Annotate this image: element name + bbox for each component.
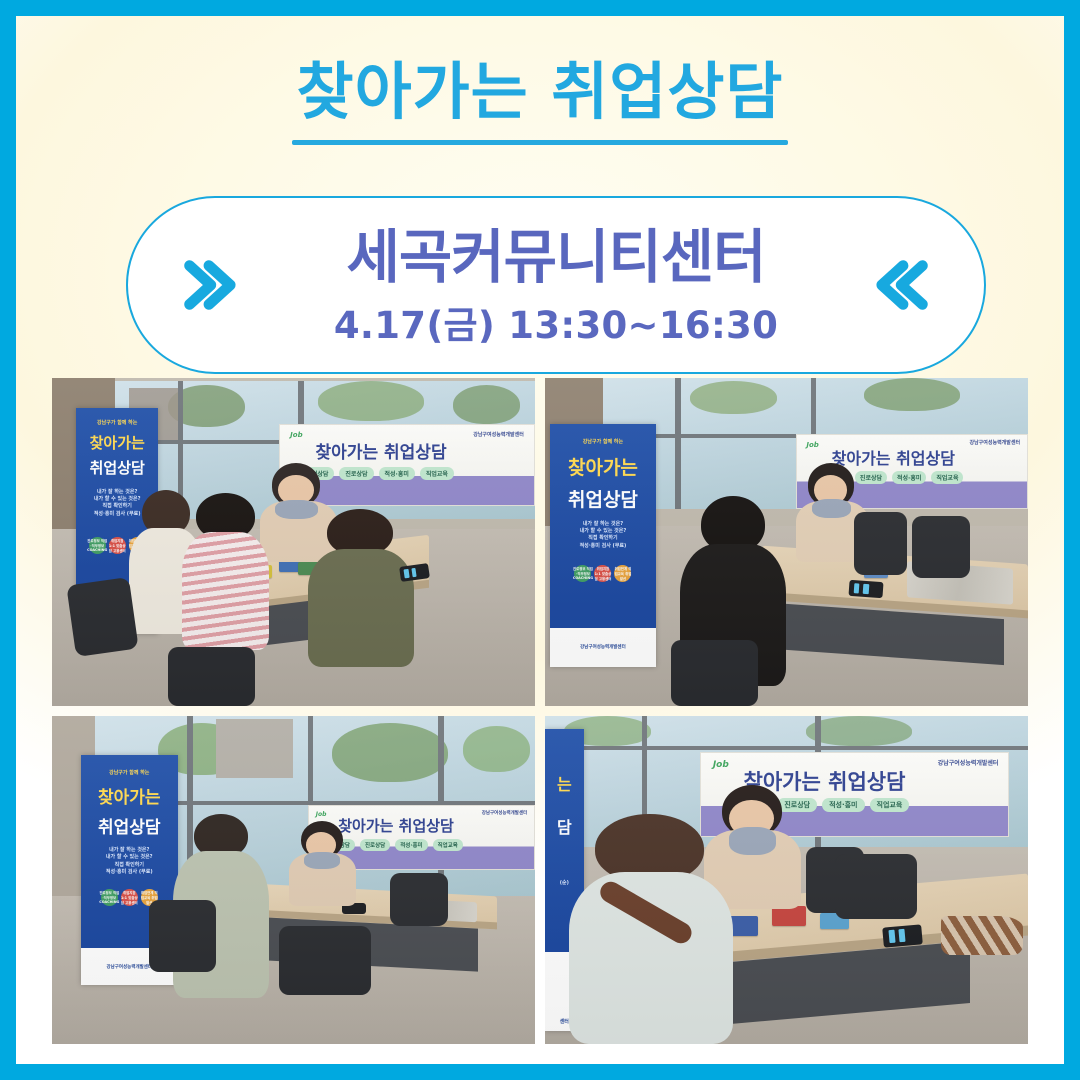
venue-text-block: 세곡커뮤니티센터 4.17(금) 13:30~16:30	[128, 198, 984, 372]
title-underline-divider	[292, 140, 788, 145]
photo-smiling-counselor: Job 찾아가는 취업상담 강남구여성능력개발센터 진로상담 적성·흥미 직업교…	[545, 716, 1028, 1044]
venue-info-card: 세곡커뮤니티센터 4.17(금) 13:30~16:30	[126, 196, 986, 374]
poster-root: 찾아가는 취업상담 세곡커뮤니티센터 4.17(금) 13:30~16:30	[0, 0, 1080, 1080]
venue-datetime: 4.17(금) 13:30~16:30	[334, 295, 778, 349]
chevron-double-right-icon	[176, 254, 238, 316]
photo-one-on-one-dark: Job 찾아가는 취업상담 강남구여성능력개발센터 취업상담 진로상담 적성·흥…	[545, 378, 1028, 706]
photo-group-counseling: Job 찾아가는 취업상담 강남구여성능력개발센터 취업상담 진로상담 적성·흥…	[52, 378, 535, 706]
chevron-double-left-icon	[874, 254, 936, 316]
venue-name: 세곡커뮤니티센터	[347, 227, 766, 287]
photo-male-client: Job 찾아가는 취업상담 강남구여성능력개발센터 취업상담 진로상담 적성·흥…	[52, 716, 535, 1044]
page-title: 찾아가는 취업상담	[297, 58, 784, 126]
photo-grid: Job 찾아가는 취업상담 강남구여성능력개발센터 취업상담 진로상담 적성·흥…	[52, 378, 1028, 1044]
poster-canvas: 찾아가는 취업상담 세곡커뮤니티센터 4.17(금) 13:30~16:30	[16, 16, 1064, 1064]
